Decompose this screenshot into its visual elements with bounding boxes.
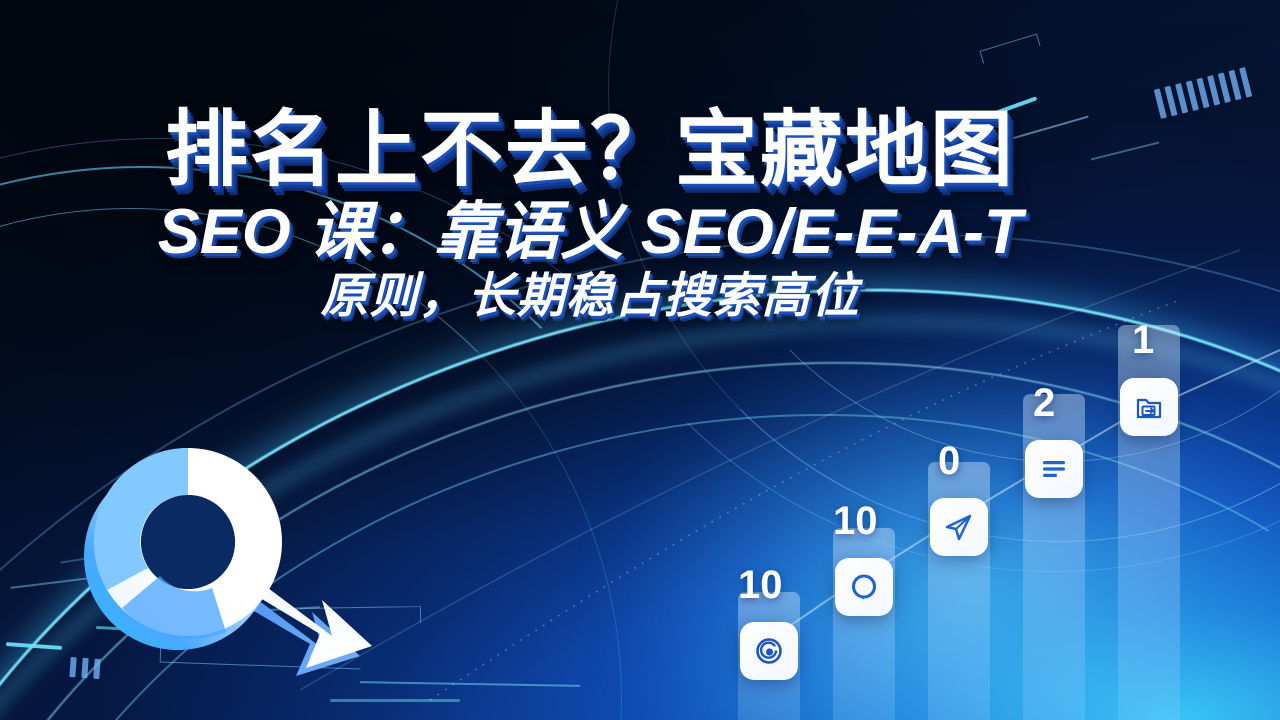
chart-node-5 [1120,378,1178,436]
chart-label-1: 10 [738,565,783,605]
headline-secondary: SEO 课：靠语义 SEO/E-E-A-T [0,199,1180,265]
magnifying-glass-arrow-icon [60,380,420,700]
chart-label-4: 2 [1033,383,1055,423]
chart-node-2 [835,558,893,616]
headline-tertiary: 原则，长期稳占搜索高位 [0,271,1180,324]
trend-line [720,290,1280,720]
chart-label-2: 10 [833,501,878,541]
chart-label-3: 0 [938,441,960,481]
document-edit-icon [1133,391,1165,423]
chart-node-3 [930,498,988,556]
title-block: 排名上不去？宝藏地图 SEO 课：靠语义 SEO/E-E-A-T 原则，长期稳占… [0,108,1180,324]
cover-image: 排名上不去？宝藏地图 SEO 课：靠语义 SEO/E-E-A-T 原则，长期稳占… [0,0,1280,720]
spiral-target-icon [753,635,785,667]
headline-primary: 排名上不去？宝藏地图 [0,108,1180,191]
chart-label-5: 1 [1132,320,1154,360]
paper-plane-send-icon [943,511,975,543]
bar-2 [833,528,895,720]
text-lines-icon [1038,453,1070,485]
bar-chart: 10 10 0 2 1 [720,290,1280,720]
chart-node-4 [1025,440,1083,498]
chart-node-1 [740,622,798,680]
circle-ring-icon [848,571,880,603]
